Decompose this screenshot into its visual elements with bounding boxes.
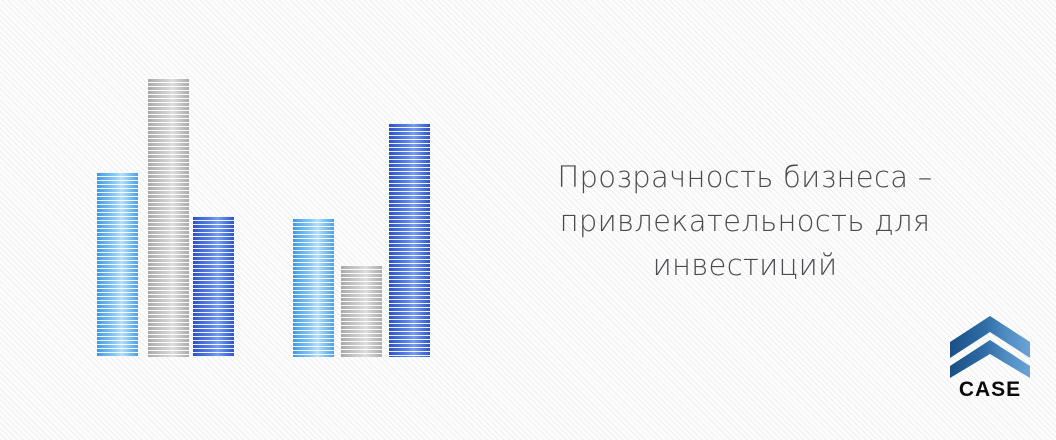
chart-bar	[293, 218, 334, 357]
double-chevron-up-icon	[950, 316, 1030, 378]
chart-bar	[389, 123, 430, 357]
page-title: Прозрачность бизнеса – привлекательность…	[530, 155, 960, 287]
chart-bar	[97, 172, 138, 357]
chart-bar	[341, 265, 382, 357]
chart-bar	[193, 216, 234, 357]
slide-canvas: Прозрачность бизнеса – привлекательность…	[0, 0, 1056, 440]
logo-wordmark: CASE	[944, 378, 1036, 402]
chart-bar	[148, 78, 189, 357]
bar-chart	[0, 0, 520, 440]
logo[interactable]: CASE	[944, 316, 1036, 404]
